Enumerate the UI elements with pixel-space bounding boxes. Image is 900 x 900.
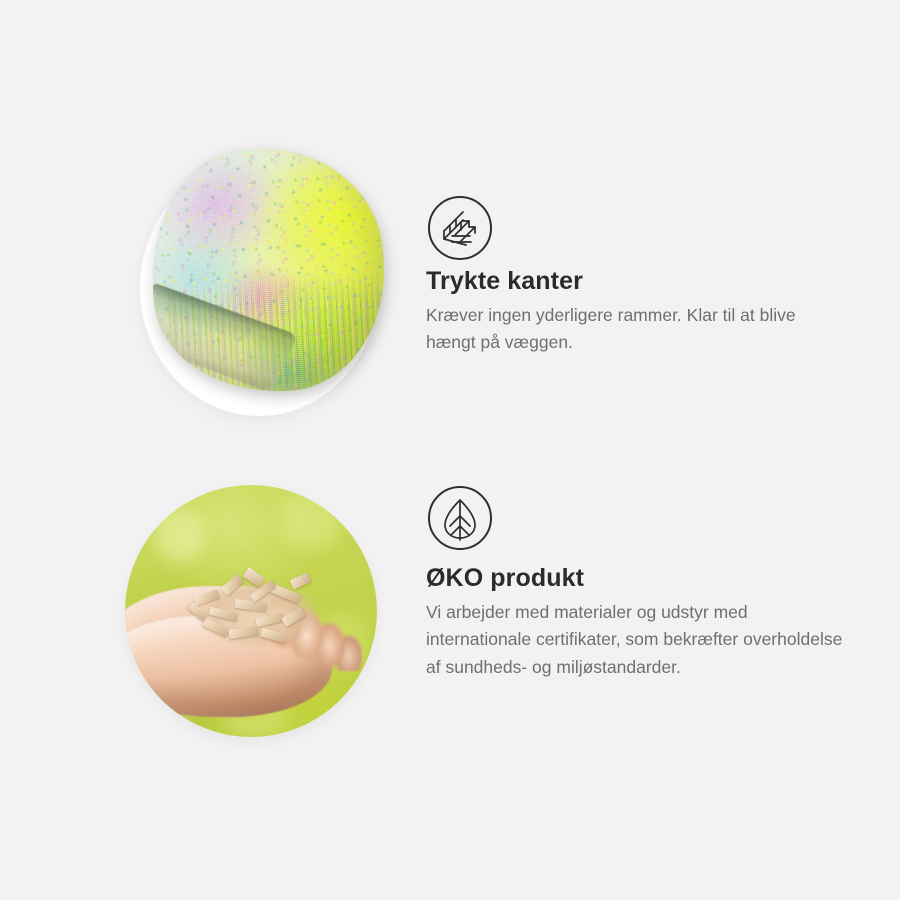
product-features-page: Trykte kanter Kræver ingen yderligere ra… [0,0,900,900]
folded-canvas-edge-icon [428,196,492,260]
feature-printed-edges: Trykte kanter Kræver ingen yderligere ra… [0,150,900,430]
feature-eco-product: ØKO produkt Vi arbejder med materialer o… [0,475,900,755]
hands-wood-chips-photo [125,485,377,737]
feature-title: ØKO produkt [426,565,584,593]
eco-product-image [125,485,377,737]
canvas-painted-face [144,140,392,400]
feature-title: Trykte kanter [426,268,583,296]
leaf-icon [428,486,492,550]
wood-chip-pile [185,561,331,657]
feature-description: Vi arbejder med materialer og udstyr med… [426,599,850,681]
canvas-corner-photo [152,148,384,392]
printed-edges-image [140,160,378,416]
feature-description: Kræver ingen yderligere rammer. Klar til… [426,302,850,357]
